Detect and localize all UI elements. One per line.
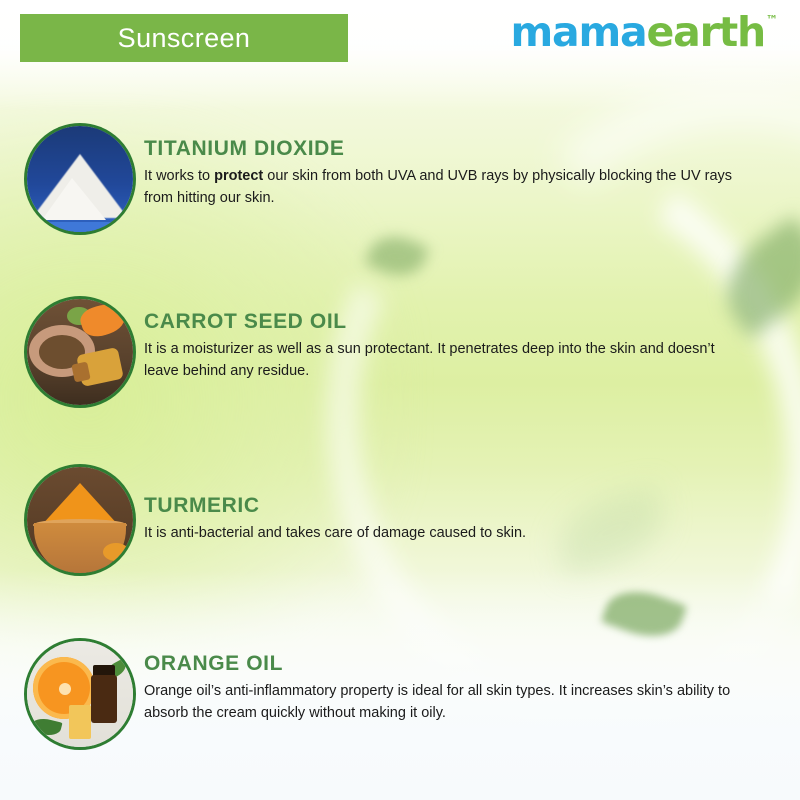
description-emphasis: protect <box>214 168 263 184</box>
description-prefix: Orange oil’s anti-inflammatory property … <box>144 683 730 721</box>
thumbnail-art <box>27 299 133 405</box>
trademark-icon: ™ <box>766 14 778 26</box>
description-prefix: It works to <box>144 168 214 184</box>
thumbnail-art <box>27 641 133 747</box>
brand-logo: mama earth ™ <box>511 12 778 53</box>
brand-name-part1: mama <box>511 12 647 53</box>
turmeric-photo <box>24 464 136 576</box>
ingredient-description: It is a moisturizer as well as a sun pro… <box>144 338 752 382</box>
ingredient-text-column: TITANIUM DIOXIDE It works to protect our… <box>144 137 764 209</box>
orange-oil-photo <box>24 638 136 750</box>
page-title: Sunscreen <box>118 23 251 54</box>
description-prefix: It is anti-bacterial and takes care of d… <box>144 525 526 541</box>
page-header: Sunscreen mama earth ™ <box>0 0 800 80</box>
ingredient-description: It is anti-bacterial and takes care of d… <box>144 522 752 544</box>
ingredient-title: ORANGE OIL <box>144 652 764 676</box>
title-banner: Sunscreen <box>20 14 348 62</box>
ingredient-text-column: TURMERIC It is anti-bacterial and takes … <box>144 494 764 544</box>
ingredient-title: TURMERIC <box>144 494 764 518</box>
ingredient-text-column: CARROT SEED OIL It is a moisturizer as w… <box>144 310 764 382</box>
ingredient-text-column: ORANGE OIL Orange oil’s anti-inflammator… <box>144 652 764 724</box>
ingredient-description: Orange oil’s anti-inflammatory property … <box>144 680 752 724</box>
infographic-canvas: Sunscreen mama earth ™ TITANIUM DIOXIDE … <box>0 0 800 800</box>
ingredient-title: CARROT SEED OIL <box>144 310 764 334</box>
brand-name-part2: earth <box>647 12 765 53</box>
ingredient-description: It works to protect our skin from both U… <box>144 165 752 209</box>
thumbnail-art <box>27 467 133 573</box>
description-prefix: It is a moisturizer as well as a sun pro… <box>144 341 715 379</box>
titanium-dioxide-photo <box>24 123 136 235</box>
thumbnail-art <box>27 126 133 232</box>
ingredient-title: TITANIUM DIOXIDE <box>144 137 764 161</box>
carrot-seed-oil-photo <box>24 296 136 408</box>
